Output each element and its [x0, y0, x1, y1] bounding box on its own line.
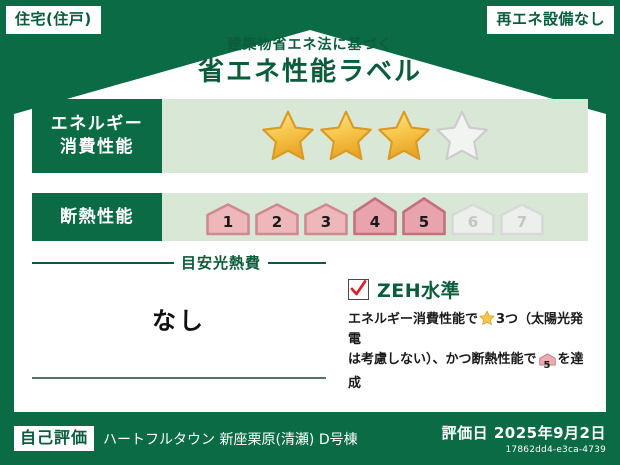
self-evaluation-badge: 自己評価	[14, 426, 94, 451]
estimated-utility-cost-title: 目安光熱費	[181, 252, 261, 273]
energy-performance-label: 住宅(住戸) 再エネ設備なし 建築物省エネ法に基づく 省エネ性能ラベル エネルギ…	[0, 0, 620, 465]
lower-section: 目安光熱費 なし ZEH水準 エネルギー消費性能で3つ（太陽光発電は考慮しない）…	[32, 252, 588, 400]
check-icon	[350, 280, 367, 298]
estimated-utility-cost-value: なし	[32, 301, 326, 336]
star-icon-filled	[376, 108, 432, 164]
star-icon-filled	[318, 108, 374, 164]
footer-right-block: 評価日 2025年9月2日 17862dd4-e3ca-4739	[442, 422, 606, 455]
house-shape-icon	[254, 202, 300, 236]
energy-performance-row: エネルギー 消費性能	[32, 99, 588, 173]
house-shape-icon	[205, 202, 251, 236]
house-shape-icon	[352, 196, 398, 236]
energy-performance-value-cell	[162, 99, 588, 173]
house-icon-number: 5	[539, 358, 556, 374]
title-subtitle: 建築物省エネ法に基づく	[0, 38, 620, 53]
house-shape-icon	[401, 196, 447, 236]
star-icon-filled	[260, 108, 316, 164]
header-rule-right	[268, 262, 326, 264]
zeh-desc-part1: エネルギー消費性能で	[348, 312, 478, 327]
header-rule-left	[32, 262, 174, 264]
evaluation-date: 評価日 2025年9月2日	[442, 424, 606, 442]
house-level-5: 5	[401, 196, 447, 236]
star-icon-empty	[434, 108, 490, 164]
house-shape-icon	[499, 202, 545, 236]
energy-performance-label-cell: エネルギー 消費性能	[32, 99, 162, 173]
house-shape-icon	[303, 202, 349, 236]
zeh-header: ZEH水準	[348, 276, 588, 303]
house-level-2: 2	[254, 202, 300, 236]
title-block: 建築物省エネ法に基づく 省エネ性能ラベル	[0, 38, 620, 88]
energy-label-line1: エネルギー	[51, 114, 144, 134]
zeh-description: エネルギー消費性能で3つ（太陽光発電は考慮しない）、かつ断熱性能で5を達成	[348, 310, 588, 395]
property-name: ハートフルタウン 新座栗原(清瀬) D号棟	[103, 429, 358, 449]
star-icon	[479, 310, 495, 326]
evaluation-id: 17862dd4-e3ca-4739	[442, 445, 606, 455]
zeh-title: ZEH水準	[377, 276, 460, 303]
cost-bottom-rule	[32, 377, 326, 379]
house-level-1: 1	[205, 202, 251, 236]
zeh-desc-part2: は考慮しない）、かつ断熱性能で	[348, 352, 537, 367]
house-rating-scale: 1234567	[205, 196, 545, 238]
zeh-checkbox[interactable]	[348, 279, 369, 300]
house-shape-icon	[450, 202, 496, 236]
insulation-performance-row: 断熱性能 1234567	[32, 193, 588, 241]
estimated-utility-cost-block: 目安光熱費 なし	[32, 252, 332, 400]
insulation-performance-value-cell: 1234567	[162, 193, 588, 241]
badge-building-type: 住宅(住戸)	[6, 6, 101, 34]
house-icon-inline: 5	[539, 352, 556, 374]
star-rating	[260, 108, 490, 164]
house-level-6: 6	[450, 202, 496, 236]
house-level-3: 3	[303, 202, 349, 236]
zeh-block: ZEH水準 エネルギー消費性能で3つ（太陽光発電は考慮しない）、かつ断熱性能で5…	[332, 252, 588, 400]
badge-renewable-energy: 再エネ設備なし	[487, 6, 614, 34]
house-level-7: 7	[499, 202, 545, 236]
page-title: 省エネ性能ラベル	[0, 58, 620, 88]
insulation-performance-label-cell: 断熱性能	[32, 193, 162, 241]
footer: 自己評価 ハートフルタウン 新座栗原(清瀬) D号棟 評価日 2025年9月2日…	[0, 412, 620, 465]
house-level-4: 4	[352, 196, 398, 236]
estimated-utility-cost-header: 目安光熱費	[32, 252, 326, 273]
energy-label-line2: 消費性能	[60, 137, 134, 157]
